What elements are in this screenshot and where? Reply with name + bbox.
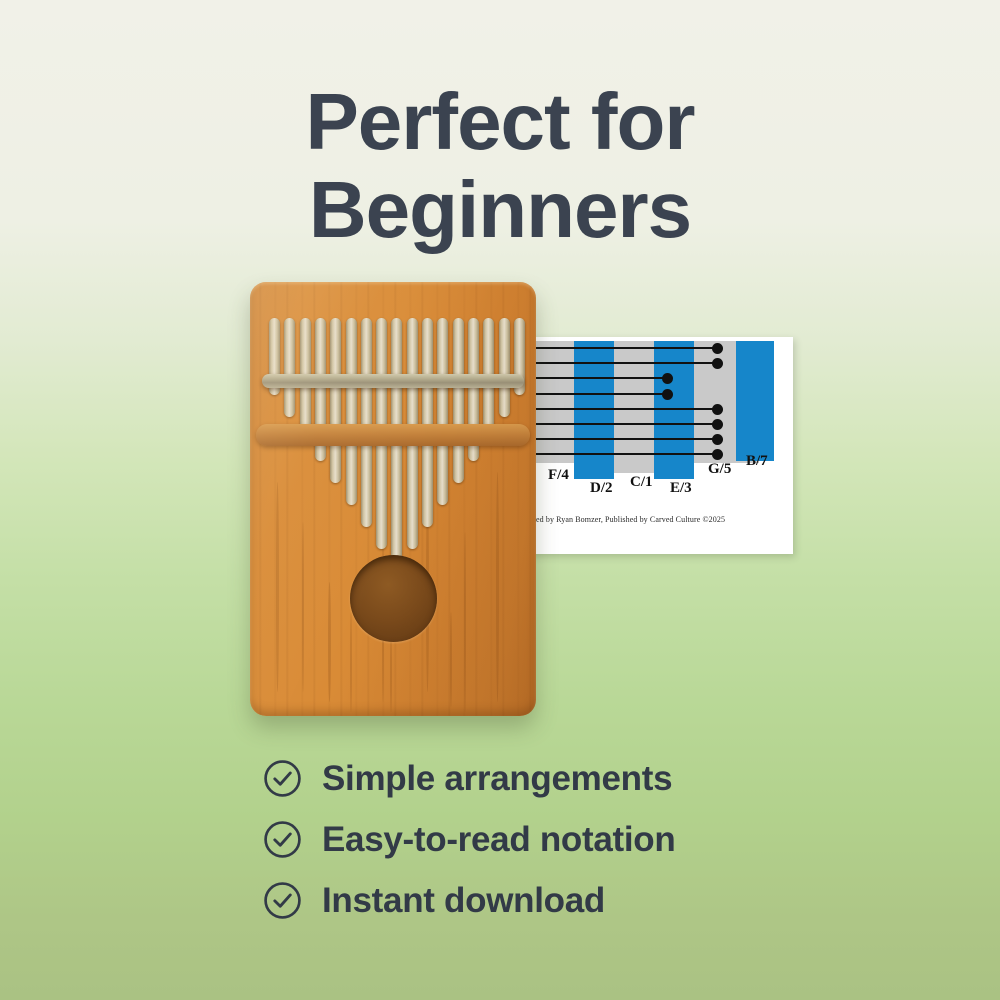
wood-grain-streak [450,612,452,707]
kalimba-tine [284,318,295,417]
staff-line [534,347,716,349]
staff-line [534,438,716,440]
feature-item: Instant download [262,870,802,931]
tablature-label-D-2: D/2 [590,480,613,497]
tablature-label-G-5: G/5 [708,461,731,478]
note-head-G-5 [712,358,723,369]
staff-line [534,408,716,410]
note-head-G-5 [712,419,723,430]
kalimba-tine [330,318,341,483]
tablature-label-F-4: F/4 [548,467,569,484]
wood-grain-streak [276,482,279,692]
staff-line [534,362,716,364]
tablature-label-B-7: B/7 [746,453,768,470]
tablature-sheet: F/4D/2C/1E/3G/5B/7 ed by Ryan Bomzer, Pu… [528,337,793,554]
tablature-grid [534,341,783,467]
check-circle-icon [262,758,303,799]
kalimba-tine [361,318,372,527]
staff-line [534,377,666,379]
feature-item: Simple arrangements [262,748,802,809]
feature-label: Simple arrangements [322,759,672,799]
feature-list: Simple arrangementsEasy-to-read notation… [262,748,802,931]
staff-line [534,453,716,455]
tablature-staff [534,341,759,463]
kalimba-tine [346,318,357,505]
sheet-credit-line: ed by Ryan Bomzer, Published by Carved C… [536,515,786,524]
feature-item: Easy-to-read notation [262,809,802,870]
note-head-E-3 [662,373,673,384]
kalimba-bridge-bar [262,374,524,388]
tablature-label-E-3: E/3 [670,480,692,497]
note-head-G-5 [712,404,723,415]
wood-grain-streak [302,522,304,692]
feature-label: Easy-to-read notation [322,820,675,860]
kalimba-tine [499,318,510,417]
kalimba-sound-hole [350,555,437,642]
check-circle-icon [262,880,303,921]
note-head-G-5 [712,343,723,354]
kalimba-lower-rail [256,424,530,446]
wood-grain-streak [328,582,331,702]
page-title: Perfect for Beginners [0,78,1000,254]
kalimba-tine [437,318,448,505]
promo-graphic: Perfect for Beginners F/4D/2C/1E/3G/5B/7… [0,0,1000,1000]
kalimba-instrument [250,282,536,716]
kalimba-tine [453,318,464,483]
kalimba-tine [422,318,433,527]
wood-grain-streak [464,532,466,712]
check-circle-icon [262,819,303,860]
note-head-E-3 [662,389,673,400]
wood-grain-streak [496,472,499,702]
wood-grain-streak [350,612,352,712]
tablature-label-C-1: C/1 [630,474,653,491]
note-head-G-5 [712,449,723,460]
feature-label: Instant download [322,881,605,921]
wood-grain-streak [390,632,392,712]
note-head-G-5 [712,434,723,445]
staff-line [534,393,666,395]
staff-line [534,423,716,425]
